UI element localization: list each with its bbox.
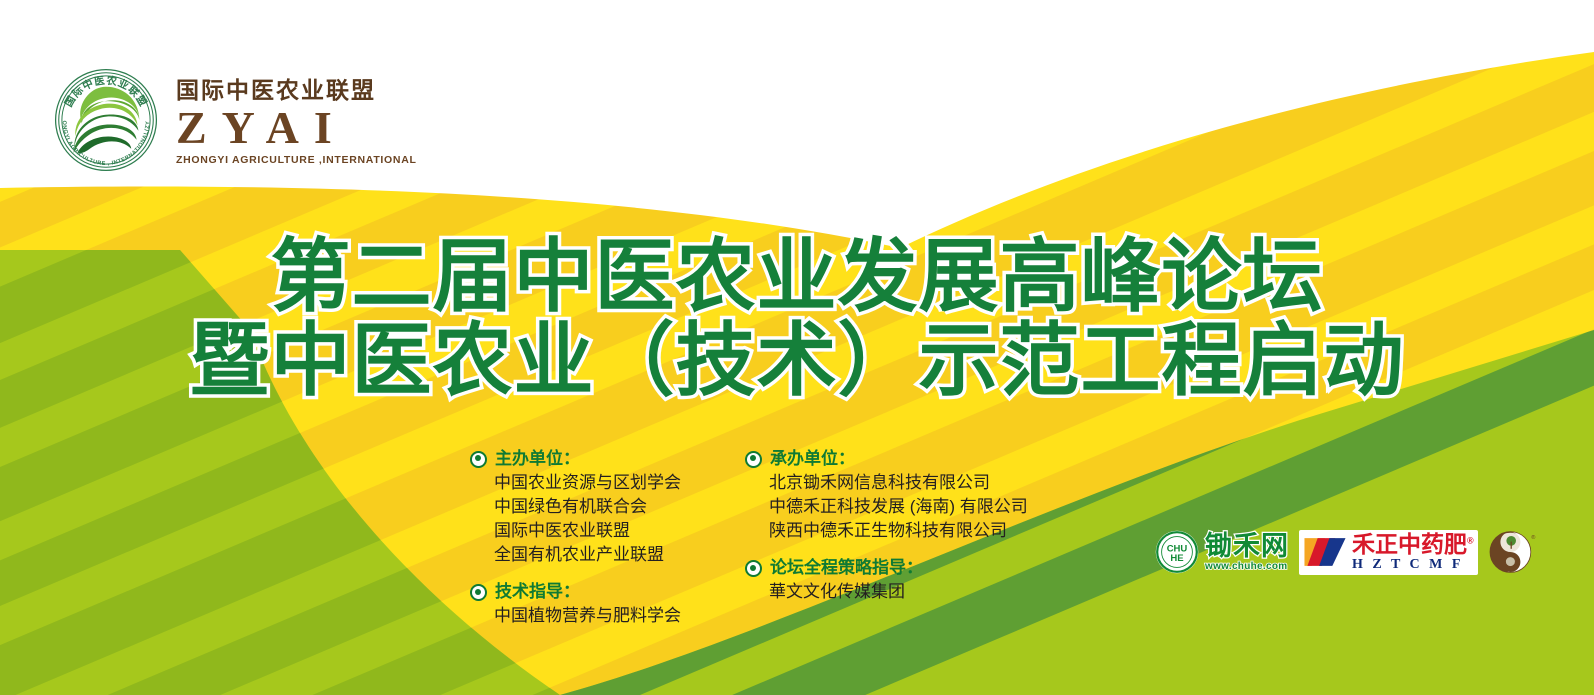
registered-icon: ® [1467,535,1474,545]
svg-text:HE: HE [1170,553,1183,564]
info-heading-label: 论坛全程策略指导： [770,557,923,580]
list-item: 華文文化传媒集团 [769,580,1045,604]
poster-canvas: 国际中医农业联盟 ZHONGYI AGRICULTURE , INTERNATI… [0,0,1594,695]
sponsor-taiji-seal: ® [1488,528,1536,576]
info-group-organizer: 承办单位： 北京锄禾网信息科技有限公司 中德禾正科技发展 (海南) 有限公司 陕… [745,448,1045,543]
chuhe-url: www.chuhe.com [1205,562,1289,572]
info-heading-strategy: 论坛全程策略指导： [745,557,1045,580]
list-item: 全国有机农业产业联盟 [494,543,745,567]
page-title: 第二届中医农业发展高峰论坛 暨中医农业（技术）示范工程启动 [0,237,1594,401]
info-column-right: 承办单位： 北京锄禾网信息科技有限公司 中德禾正科技发展 (海南) 有限公司 陕… [745,448,1045,643]
list-item: 中德禾正科技发展 (海南) 有限公司 [769,495,1045,519]
sponsor-hztcmf: 禾正中药肥® H Z T C M F [1299,530,1478,575]
taiji-tree-seal-icon: ® [1488,528,1536,576]
organizer-info: 主办单位： 中国农业资源与区划学会 中国绿色有机联合会 国际中医农业联盟 全国有… [470,448,1045,643]
info-list-organizer: 北京锄禾网信息科技有限公司 中德禾正科技发展 (海南) 有限公司 陕西中德禾正生… [745,471,1045,543]
logo-wordmark: 国际中医农业联盟 ZYAI ZHONGYI AGRICULTURE ,INTER… [176,75,417,166]
info-group-strategy: 论坛全程策略指导： 華文文化传媒集团 [745,557,1045,604]
sponsor-chuhe: CHU HE 锄禾网 www.chuhe.com [1155,530,1289,574]
title-line-2: 暨中医农业（技术）示范工程启动 [0,321,1594,401]
logo-acronym: ZYAI [176,104,417,152]
bullet-icon [745,451,762,468]
chuhe-seal-icon: CHU HE [1155,530,1199,574]
info-heading-tech-guidance: 技术指导： [470,581,745,604]
info-heading-label: 承办单位： [770,448,855,471]
info-heading-label: 主办单位： [495,448,580,471]
bullet-icon [470,584,487,601]
info-heading-label: 技术指导： [495,581,580,604]
registered-icon: ® [1531,534,1536,541]
bullet-icon [745,560,762,577]
sponsor-logos: CHU HE 锄禾网 www.chuhe.com 禾正中药肥® H Z T C … [1155,528,1536,576]
logo-name-en: ZHONGYI AGRICULTURE ,INTERNATIONAL [176,155,417,166]
zyai-emblem-icon: 国际中医农业联盟 ZHONGYI AGRICULTURE , INTERNATI… [52,66,160,174]
list-item: 中国农业资源与区划学会 [494,471,745,495]
logo-name-cn: 国际中医农业联盟 [176,79,417,102]
info-column-left: 主办单位： 中国农业资源与区划学会 中国绿色有机联合会 国际中医农业联盟 全国有… [470,448,745,643]
hztcmf-z-mark-icon [1303,535,1347,569]
hztcmf-name-en: H Z T C M F [1352,558,1474,572]
info-list-tech-guidance: 中国植物营养与肥料学会 [470,604,745,628]
chuhe-name-cn: 锄禾网 [1205,533,1289,560]
hztcmf-name-cn: 禾正中药肥® [1352,533,1474,556]
list-item: 中国绿色有机联合会 [494,495,745,519]
info-list-strategy: 華文文化传媒集团 [745,580,1045,604]
info-group-host: 主办单位： 中国农业资源与区划学会 中国绿色有机联合会 国际中医农业联盟 全国有… [470,448,745,567]
list-item: 中国植物营养与肥料学会 [494,604,745,628]
list-item: 陕西中德禾正生物科技有限公司 [769,519,1045,543]
info-heading-organizer: 承办单位： [745,448,1045,471]
info-group-tech-guidance: 技术指导： 中国植物营养与肥料学会 [470,581,745,628]
list-item: 国际中医农业联盟 [494,519,745,543]
title-line-1: 第二届中医农业发展高峰论坛 [0,237,1594,317]
list-item: 北京锄禾网信息科技有限公司 [769,471,1045,495]
zyai-logo: 国际中医农业联盟 ZHONGYI AGRICULTURE , INTERNATI… [52,66,417,174]
bullet-icon [470,451,487,468]
info-heading-host: 主办单位： [470,448,745,471]
info-list-host: 中国农业资源与区划学会 中国绿色有机联合会 国际中医农业联盟 全国有机农业产业联… [470,471,745,568]
